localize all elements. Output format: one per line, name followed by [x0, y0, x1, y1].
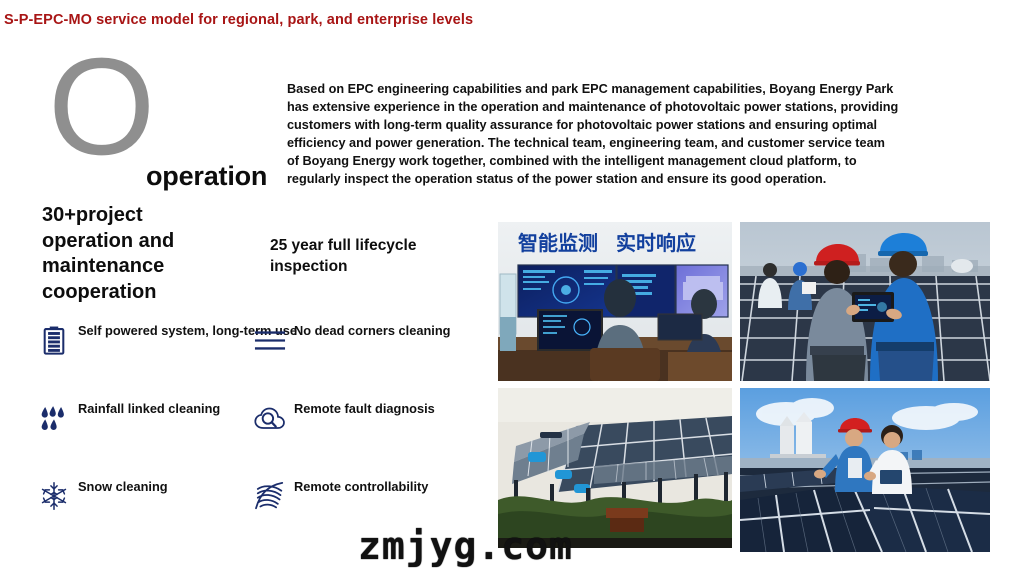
page-title: S-P-EPC-MO service model for regional, p… — [4, 12, 473, 28]
feature-label: Snow cleaning — [78, 474, 168, 496]
feature-no-dead-corners-cleaning: No dead corners cleaning — [250, 318, 450, 362]
paragraph-line: regularly inspect the operation status o… — [287, 170, 995, 188]
battery-icon — [34, 318, 74, 362]
hero-letter-block: O operation — [48, 55, 298, 165]
site-watermark: zmjyg.com — [358, 524, 573, 568]
feature-label: Rainfall linked cleaning — [78, 396, 220, 418]
feature-snow-cleaning: Snow cleaning — [34, 474, 168, 518]
feature-label: Remote controllability — [294, 474, 428, 496]
paragraph-line: of Boyang Energy work together, combined… — [287, 152, 995, 170]
hero-letter-o: O — [48, 55, 136, 163]
snowflake-icon — [34, 474, 74, 518]
stat-heading-lifecycle: 25 year full lifecycle inspection — [270, 235, 480, 277]
signal-waves-icon — [250, 474, 290, 518]
rooftop-walkthrough-photo — [740, 388, 990, 552]
control-room-photo: 智能监测 实时响应 — [498, 222, 732, 381]
paragraph-line: customers with long-term quality assuran… — [287, 116, 995, 134]
paragraph-line: has extensive experience in the operatio… — [287, 98, 995, 116]
svg-text:实时响应: 实时响应 — [616, 231, 696, 255]
feature-remote-fault-diagnosis: Remote fault diagnosis — [250, 396, 435, 440]
feature-remote-controllability: Remote controllability — [250, 474, 428, 518]
feature-rainfall-linked-cleaning: Rainfall linked cleaning — [34, 396, 220, 440]
feature-label: Remote fault diagnosis — [294, 396, 435, 418]
cloud-search-icon — [250, 396, 290, 440]
svg-text:智能监测: 智能监测 — [518, 231, 598, 255]
intro-paragraph: Based on EPC engineering capabilities an… — [287, 80, 995, 189]
raindrops-icon — [34, 396, 74, 440]
hero-word-operation: operation — [146, 161, 267, 192]
feature-label: No dead corners cleaning — [294, 318, 450, 340]
paragraph-line: efficiency and power generation. The tec… — [287, 134, 995, 152]
rooftop-inspection-tablet-photo — [740, 222, 990, 381]
paragraph-line: Based on EPC engineering capabilities an… — [287, 80, 995, 98]
slide-root: S-P-EPC-MO service model for regional, p… — [0, 0, 1024, 576]
stat-heading-projects: 30+project operation and maintenance coo… — [42, 203, 232, 305]
photo-grid: 智能监测 实时响应 — [498, 222, 990, 552]
three-lines-icon — [250, 318, 290, 362]
